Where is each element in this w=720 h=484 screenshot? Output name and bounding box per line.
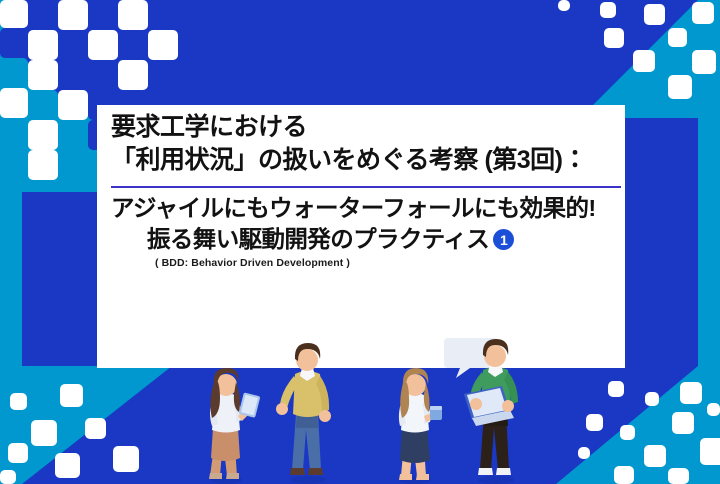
title-block: 要求工学における 「利用状況」の扱いをめぐる考察 (第3回)： bbox=[111, 111, 617, 177]
subtitle-line-2-text: 振る舞い駆動開発のプラクティス bbox=[147, 224, 489, 255]
subtitle-line-1: アジャイルにもウォーターフォールにも効果的! bbox=[111, 194, 617, 224]
subtitle-line-2: 振る舞い駆動開発のプラクティス 1 bbox=[111, 224, 617, 255]
figure-man-with-laptop bbox=[458, 334, 532, 484]
title-card: 要求工学における 「利用状況」の扱いをめぐる考察 (第3回)： アジャイルにもウ… bbox=[97, 105, 625, 368]
illustration-white-ground bbox=[97, 330, 625, 368]
title-line-1: 要求工学における bbox=[111, 111, 617, 144]
figure-woman-with-tablet bbox=[196, 360, 260, 484]
title-divider-rule bbox=[111, 186, 621, 188]
slide-canvas: 要求工学における 「利用状況」の扱いをめぐる考察 (第3回)： アジャイルにもウ… bbox=[0, 0, 720, 484]
title-line-2: 「利用状況」の扱いをめぐる考察 (第3回)： bbox=[111, 144, 617, 177]
people-illustration bbox=[0, 330, 720, 484]
bdd-note: ( BDD: Behavior Driven Development ) bbox=[111, 257, 617, 269]
figure-woman-with-cup bbox=[385, 362, 447, 484]
figure-man-yellow-sweater bbox=[272, 338, 342, 484]
part-number-badge: 1 bbox=[493, 229, 514, 250]
